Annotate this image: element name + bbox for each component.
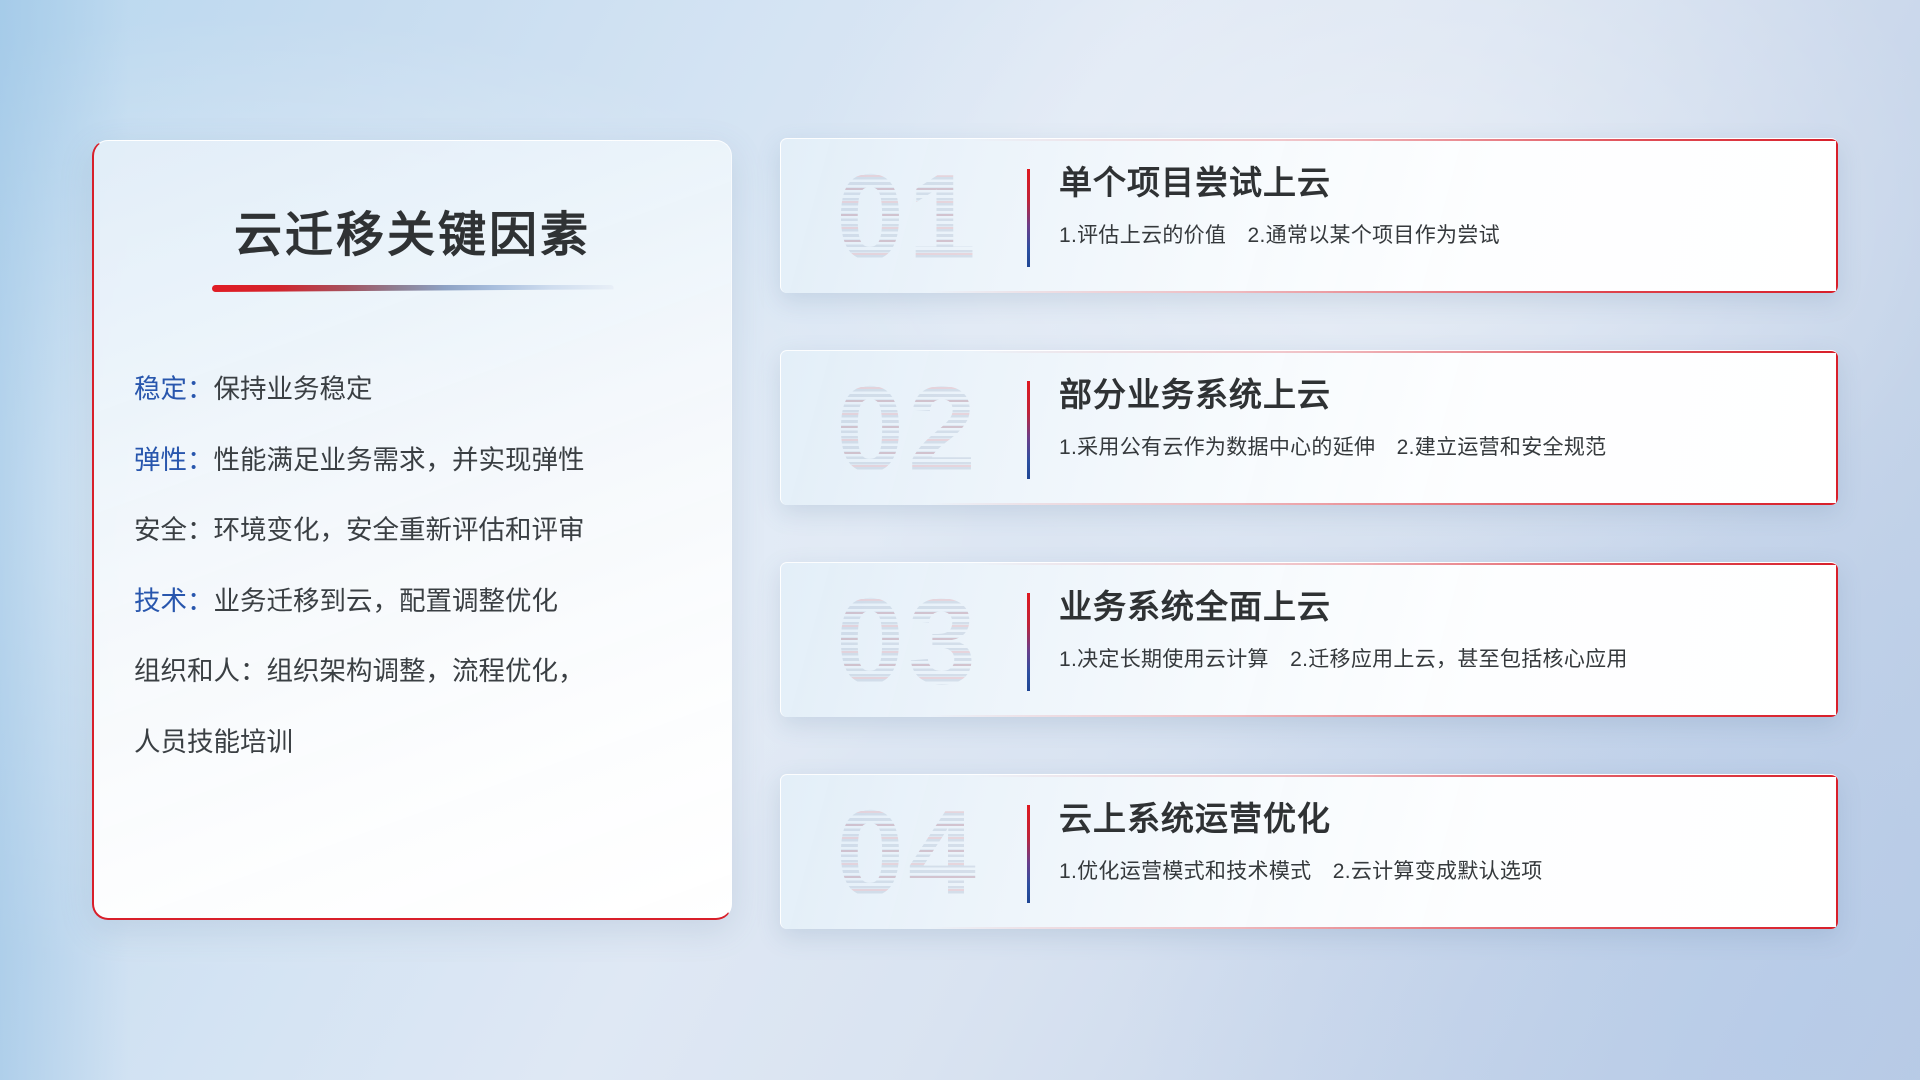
step-number-glyph: 04 — [813, 787, 1003, 919]
card-accent-edge-right — [1836, 139, 1839, 293]
step-accent-bar — [1027, 805, 1030, 903]
step-number-glyph: 02 — [813, 363, 1003, 495]
key-factors-card: 云迁移关键因素 稳定：保持业务稳定 弹性：性能满足业务需求，并实现弹性 安全：环… — [92, 140, 732, 920]
slide-canvas: 云迁移关键因素 稳定：保持业务稳定 弹性：性能满足业务需求，并实现弹性 安全：环… — [0, 0, 1920, 1080]
step-card-02[interactable]: 02 02 部分业务系统上云 1.采用公有云作为数据中心的延伸 2.建立运营和安… — [780, 350, 1838, 505]
factor-text: 性能满足业务需求，并实现弹性 — [214, 445, 585, 475]
step-accent-bar — [1027, 593, 1030, 691]
step-title: 云上系统运营优化 — [1059, 799, 1808, 839]
card-accent-edge-right — [1836, 563, 1839, 717]
card-accent-edge-right — [1836, 775, 1839, 929]
card-accent-edge-bottom — [929, 927, 1838, 930]
step-title: 部分业务系统上云 — [1059, 375, 1808, 415]
factor-text: 组织架构调整，流程优化， — [267, 656, 585, 686]
factor-text: 环境变化，安全重新评估和评审 — [214, 515, 585, 545]
step-number-glyph-tint: 02 — [813, 363, 1003, 495]
card-accent-edge-bottom — [929, 291, 1838, 294]
step-content: 业务系统全面上云 1.决定长期使用云计算 2.迁移应用上云，甚至包括核心应用 — [1059, 587, 1808, 673]
list-item: 安全：环境变化，安全重新评估和评审 — [134, 517, 731, 544]
factor-label: 安全： — [134, 515, 214, 545]
step-accent-bar — [1027, 169, 1030, 267]
step-subtitle: 1.决定长期使用云计算 2.迁移应用上云，甚至包括核心应用 — [1059, 643, 1808, 673]
factor-label: 弹性： — [134, 445, 214, 475]
step-content: 云上系统运营优化 1.优化运营模式和技术模式 2.云计算变成默认选项 — [1059, 799, 1808, 885]
card-accent-edge-top — [971, 351, 1838, 353]
step-number-glyph-tint: 04 — [813, 787, 1003, 919]
card-accent-edge-bottom — [929, 503, 1838, 506]
step-card-01[interactable]: 01 01 单个项目尝试上云 1.评估上云的价值 2.通常以某个项目作为尝试 — [780, 138, 1838, 293]
list-item: 稳定：保持业务稳定 — [134, 376, 731, 403]
card-accent-edge-bottom — [929, 715, 1838, 718]
step-content: 单个项目尝试上云 1.评估上云的价值 2.通常以某个项目作为尝试 — [1059, 163, 1808, 249]
list-item: 组织和人：组织架构调整，流程优化， — [134, 658, 731, 685]
factor-text: 保持业务稳定 — [214, 374, 373, 404]
migration-steps-list: 01 01 单个项目尝试上云 1.评估上云的价值 2.通常以某个项目作为尝试 0… — [780, 138, 1838, 929]
factor-text: 业务迁移到云，配置调整优化 — [214, 586, 559, 616]
step-number-glyph: 01 — [813, 151, 1003, 283]
factor-text: 人员技能培训 — [134, 727, 293, 757]
step-card-04[interactable]: 04 04 云上系统运营优化 1.优化运营模式和技术模式 2.云计算变成默认选项 — [780, 774, 1838, 929]
step-subtitle: 1.评估上云的价值 2.通常以某个项目作为尝试 — [1059, 219, 1808, 249]
step-card-03[interactable]: 03 03 业务系统全面上云 1.决定长期使用云计算 2.迁移应用上云，甚至包括… — [780, 562, 1838, 717]
list-item: 弹性：性能满足业务需求，并实现弹性 — [134, 447, 731, 474]
list-item: 技术：业务迁移到云，配置调整优化 — [134, 588, 731, 615]
page-title: 云迁移关键因素 — [94, 195, 731, 265]
step-number-glyph-tint: 01 — [813, 151, 1003, 283]
step-content: 部分业务系统上云 1.采用公有云作为数据中心的延伸 2.建立运营和安全规范 — [1059, 375, 1808, 461]
step-accent-bar — [1027, 381, 1030, 479]
step-number-glyph-tint: 03 — [813, 575, 1003, 707]
key-factors-list: 稳定：保持业务稳定 弹性：性能满足业务需求，并实现弹性 安全：环境变化，安全重新… — [134, 376, 731, 755]
step-title: 单个项目尝试上云 — [1059, 163, 1808, 203]
card-accent-edge-top — [971, 775, 1838, 777]
list-item-continuation: 人员技能培训 — [134, 729, 731, 756]
step-subtitle: 1.优化运营模式和技术模式 2.云计算变成默认选项 — [1059, 855, 1808, 885]
factor-label: 组织和人： — [134, 656, 267, 686]
step-number-glyph: 03 — [813, 575, 1003, 707]
card-accent-edge-top — [971, 139, 1838, 141]
card-accent-edge-top — [971, 563, 1838, 565]
card-accent-edge-right — [1836, 351, 1839, 505]
title-divider-gradient — [212, 285, 614, 292]
step-subtitle: 1.采用公有云作为数据中心的延伸 2.建立运营和安全规范 — [1059, 431, 1808, 461]
factor-label: 稳定： — [134, 374, 214, 404]
factor-label: 技术： — [134, 586, 214, 616]
step-title: 业务系统全面上云 — [1059, 587, 1808, 627]
